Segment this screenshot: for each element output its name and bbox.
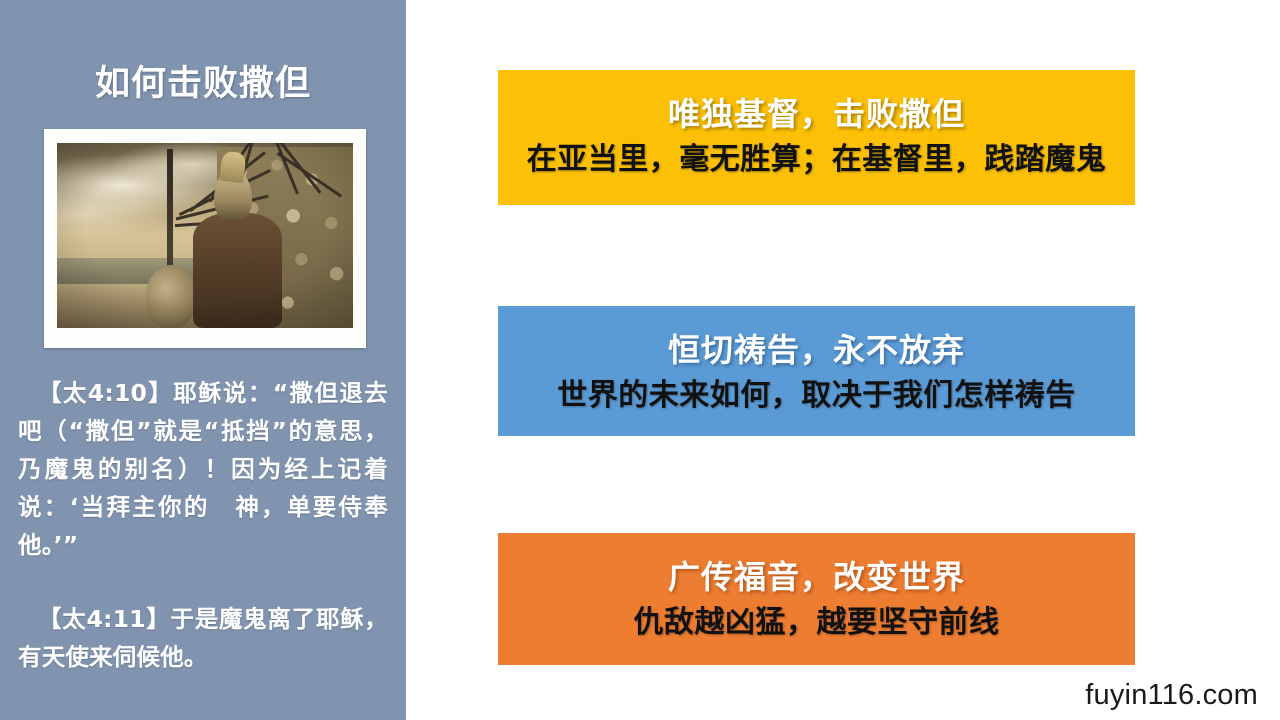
panel-subtext: 仇敌越凶猛，越要坚守前线 [498,601,1135,645]
sidebar-panel: 如何击败撒但 【太4:10】耶稣说：“撒但退去吧（“撒但”就是“抵挡”的意思 [0,0,406,720]
page-title: 如何击败撒但 [0,62,406,106]
photo-vignette [57,143,353,328]
scripture-verse-2: 【太4:11】于是魔鬼离了耶稣，有天使来伺候他。 [18,600,388,676]
panel-heading: 广传福音，改变世界 [498,553,1135,601]
panel-heading: 唯独基督，击败撒但 [498,90,1135,138]
point-panel-gospel[interactable]: 广传福音，改变世界 仇敌越凶猛，越要坚守前线 [498,533,1135,665]
panel-subtext: 在亚当里，毫无胜算；在基督里，践踏魔鬼 [498,138,1135,182]
scripture-verse-1: 【太4:10】耶稣说：“撒但退去吧（“撒但”就是“抵挡”的意思，乃魔鬼的别名）！… [18,374,388,564]
warrior-photo-frame [44,129,366,348]
panel-heading: 恒切祷告，永不放弃 [498,326,1135,374]
point-panel-prayer[interactable]: 恒切祷告，永不放弃 世界的未来如何，取决于我们怎样祷告 [498,306,1135,436]
panel-subtext: 世界的未来如何，取决于我们怎样祷告 [498,374,1135,418]
point-panel-christ[interactable]: 唯独基督，击败撒但 在亚当里，毫无胜算；在基督里，践踏魔鬼 [498,70,1135,205]
warrior-photo [57,143,353,328]
site-watermark: fuyin116.com [1085,679,1258,712]
